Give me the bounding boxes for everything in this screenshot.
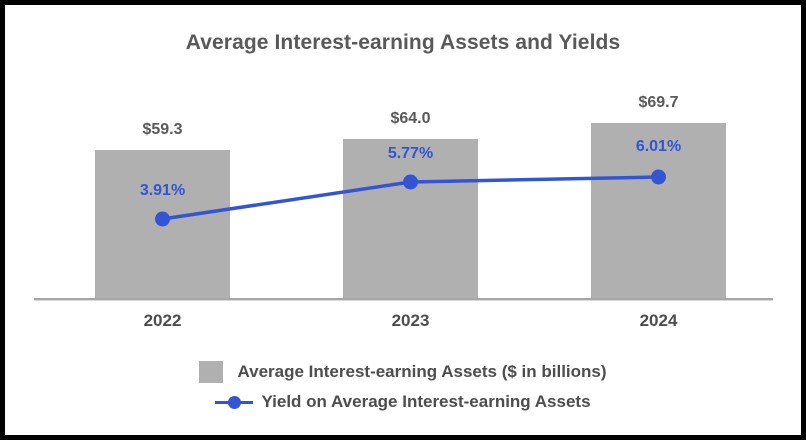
bar-value-label-2023: $64.0 bbox=[343, 110, 478, 128]
yield-value-label-2023: 5.77% bbox=[343, 145, 478, 163]
x-axis-line bbox=[34, 298, 773, 301]
blue-line-dot-marker-icon bbox=[215, 391, 253, 413]
chart-container: Average Interest-earning Assets and Yiel… bbox=[0, 0, 806, 440]
legend-dot-marker bbox=[228, 396, 241, 409]
x-tick-label-2022: 2022 bbox=[95, 311, 230, 331]
legend-item-assets: Average Interest-earning Assets ($ in bi… bbox=[5, 357, 801, 387]
legend-label-assets: Average Interest-earning Assets ($ in bi… bbox=[237, 362, 606, 382]
x-tick-label-2023: 2023 bbox=[343, 311, 478, 331]
gray-square-swatch-icon bbox=[199, 361, 223, 383]
legend-item-yield: Yield on Average Interest-earning Assets bbox=[5, 387, 801, 417]
chart-legend: Average Interest-earning Assets ($ in bi… bbox=[5, 357, 801, 417]
bar-value-label-2024: $69.7 bbox=[591, 94, 726, 112]
yield-value-label-2024: 6.01% bbox=[591, 138, 726, 156]
bar-value-label-2022: $59.3 bbox=[95, 121, 230, 139]
yield-value-label-2022: 3.91% bbox=[95, 182, 230, 200]
legend-label-yield: Yield on Average Interest-earning Assets bbox=[261, 392, 590, 412]
chart-plot-surface: Average Interest-earning Assets and Yiel… bbox=[5, 5, 801, 435]
x-tick-label-2024: 2024 bbox=[591, 311, 726, 331]
bar-2022 bbox=[95, 150, 230, 298]
